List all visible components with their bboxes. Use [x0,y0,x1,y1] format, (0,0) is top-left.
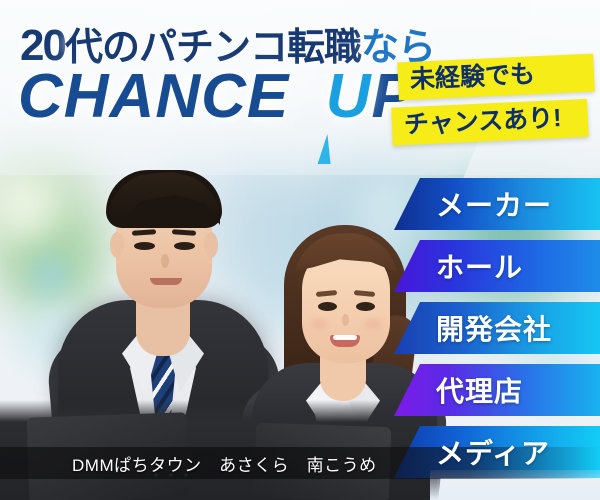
category-label: ホール [422,246,523,286]
category-label: 開発会社 [422,308,552,348]
category-button-maker[interactable]: メーカー [422,178,600,230]
brand-logo-chance: CHANCE [18,62,289,131]
category-button-agency[interactable]: 代理店 [422,364,600,416]
badge-line-1: 未経験でも [397,54,595,101]
brand-logo-u: U [326,62,372,131]
badge-line-2: チャンスあり! [391,99,589,146]
category-list: メーカー ホール 開発会社 代理店 メディア [0,178,600,488]
brand-logo: CHANCE UP [18,66,414,128]
category-button-hall[interactable]: ホール [422,240,600,292]
category-label: メーカー [422,184,552,224]
category-label: メディア [422,432,550,472]
recruitment-banner: 20代のパチンコ転職なら CHANCE UP 未経験でも チャンスあり! メーカ… [0,0,600,500]
category-button-developer[interactable]: 開発会社 [422,302,600,354]
credit-text: DMMぱちタウン あさくら 南こうめ [0,451,377,476]
status-badge: 未経験でも チャンスあり! [398,58,594,141]
category-label: 代理店 [422,370,523,410]
